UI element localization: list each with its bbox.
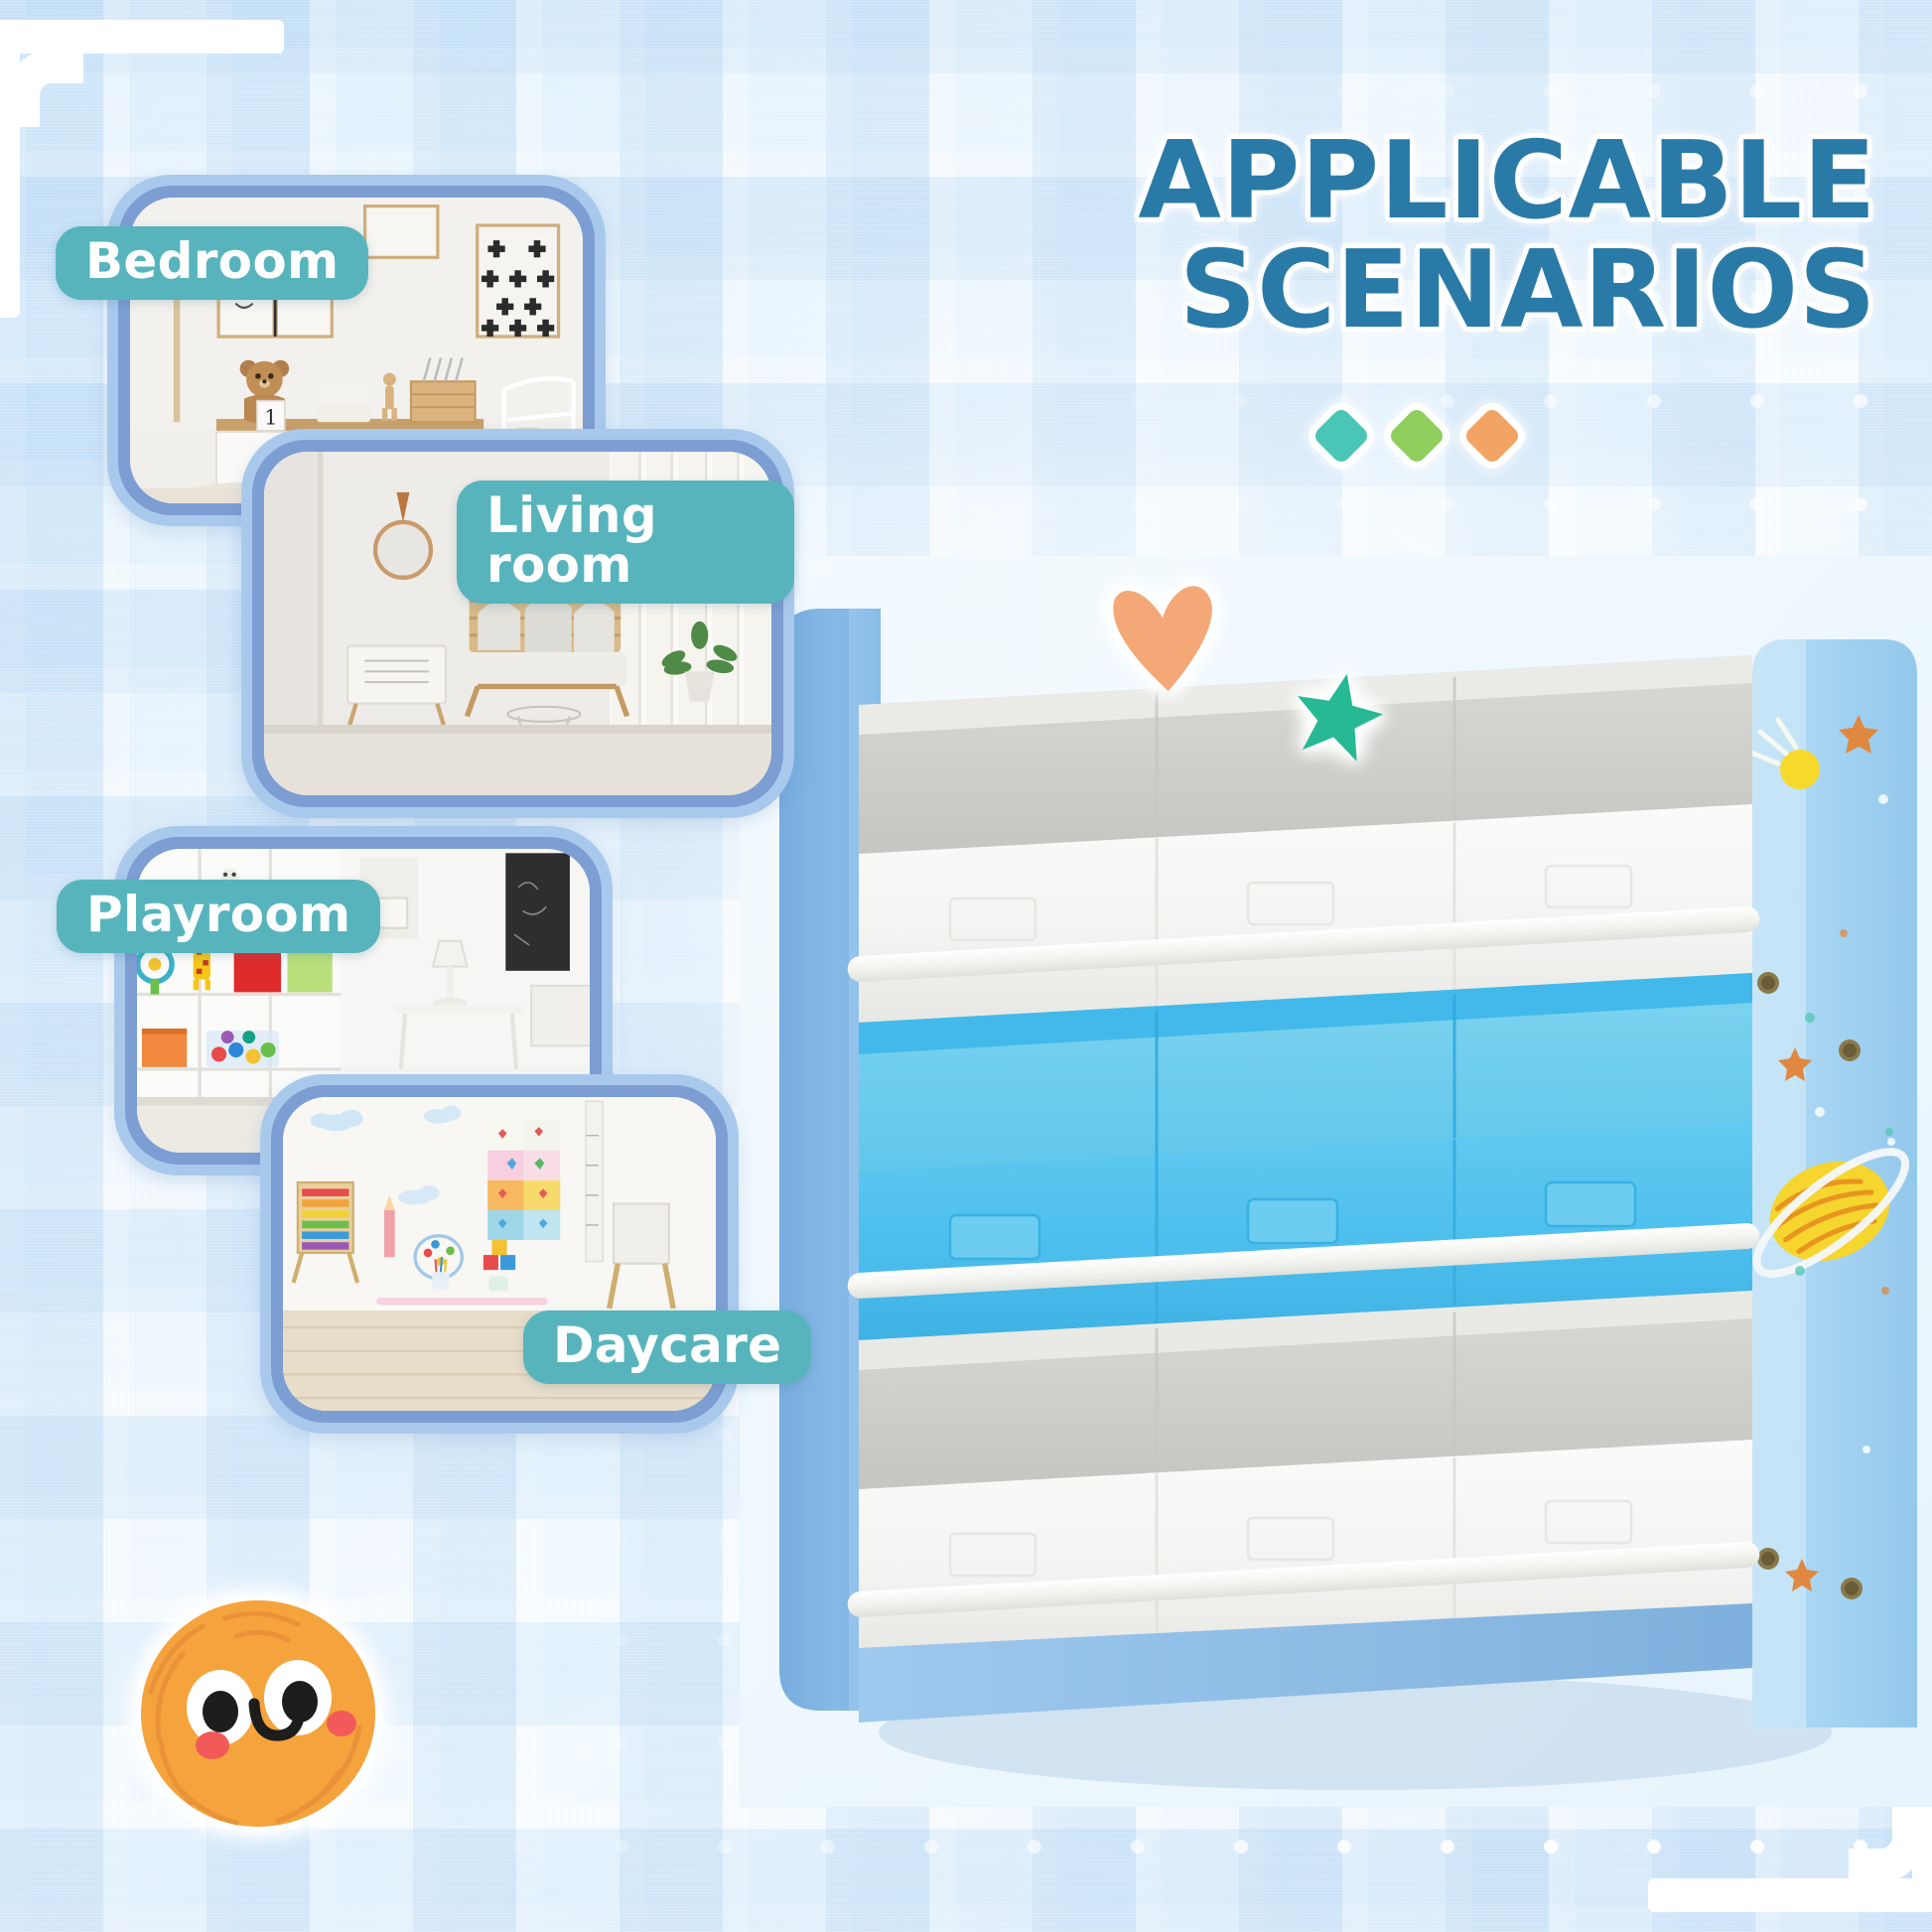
title-line-2: SCENARIOS [1003,236,1876,345]
diamond-green-icon [1387,406,1446,465]
title-line-1: APPLICABLE [1003,127,1876,236]
scenario-card-living-room[interactable]: Living room [241,429,794,818]
page-title: APPLICABLE SCENARIOS [1003,127,1876,345]
svg-text:1: 1 [264,405,277,429]
heart-sticker-icon [1102,576,1231,719]
scenario-card-daycare[interactable]: Daycare [260,1074,739,1434]
scenario-label-playroom: Playroom [57,880,380,953]
smiley-planet-sticker-icon [129,1588,387,1837]
scenario-label-living-room: Living room [457,481,794,604]
diamond-teal-icon [1311,406,1370,465]
star-sticker-icon [1291,667,1386,766]
scenario-label-bedroom: Bedroom [56,226,368,300]
title-divider-diamonds [1320,415,1513,457]
scenario-label-daycare: Daycare [523,1311,811,1384]
infographic-canvas: APPLICABLE SCENARIOS [0,0,1932,1932]
diamond-orange-icon [1462,406,1521,465]
